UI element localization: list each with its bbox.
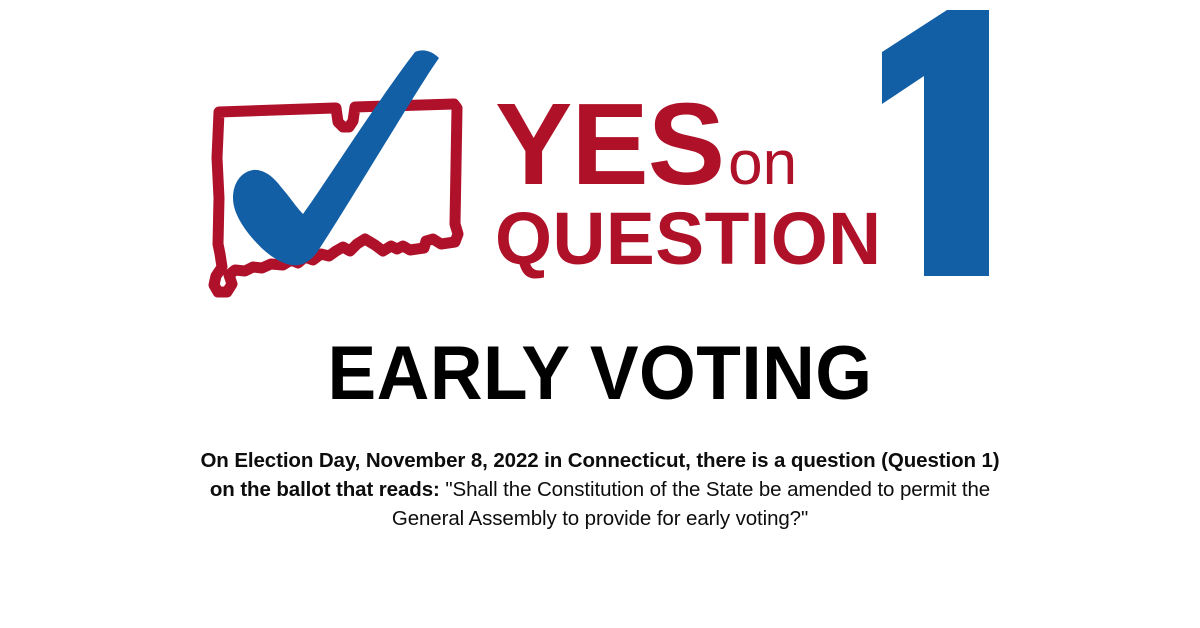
ballot-question-description: On Election Day, November 8, 2022 in Con… — [200, 446, 1000, 533]
checkmark-path — [233, 50, 439, 265]
question-label: QUESTION — [495, 202, 882, 276]
connecticut-state-outline-icon — [205, 48, 485, 308]
description-quote: "Shall the Constitution of the State be … — [392, 478, 990, 530]
page-title: EARLY VOTING — [24, 336, 1176, 412]
logo-inner: YES on QUESTION — [205, 34, 995, 314]
yes-on-row: YES on — [495, 86, 797, 202]
poster-canvas: YES on QUESTION EARLY VOTING On Election… — [0, 0, 1200, 628]
numeral-one-path — [882, 10, 989, 276]
campaign-logo: YES on QUESTION — [0, 34, 1200, 314]
question-number-1-icon — [869, 8, 1009, 278]
yes-label: YES — [495, 86, 724, 202]
logo-wordmark: YES on QUESTION — [477, 34, 997, 314]
on-label: on — [728, 133, 797, 195]
